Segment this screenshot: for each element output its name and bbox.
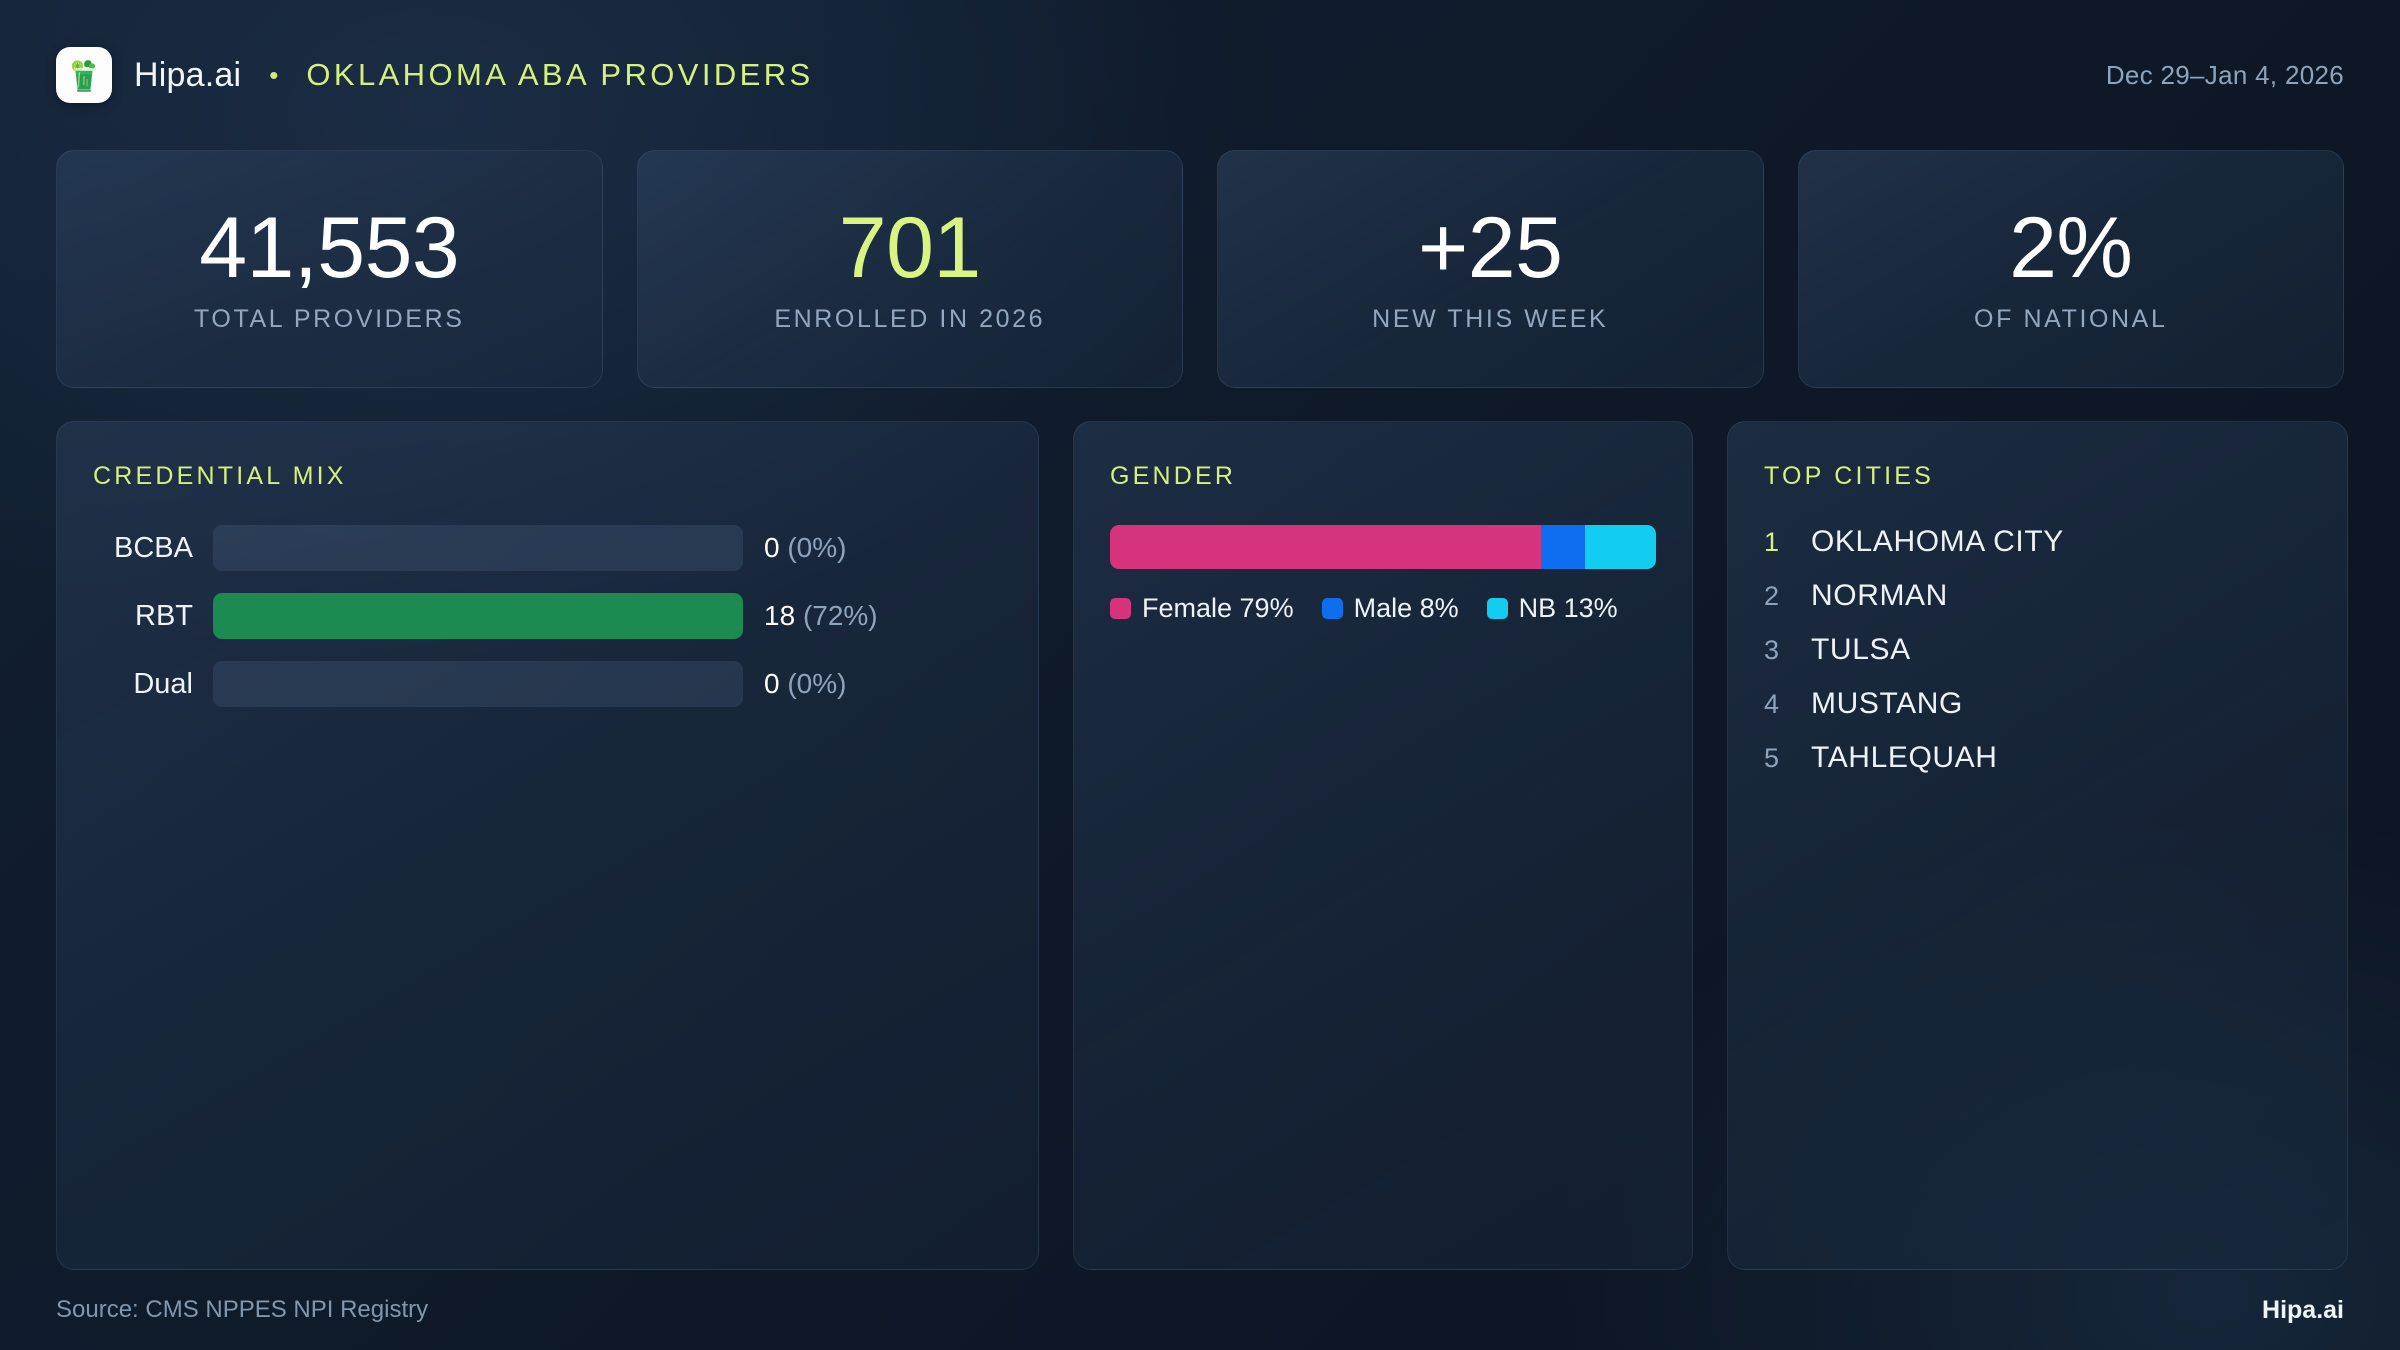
- city-name: NORMAN: [1811, 579, 1948, 613]
- list-item: 3 TULSA: [1764, 633, 2311, 667]
- legend-item-male: Male 8%: [1322, 593, 1459, 624]
- bar-percent: (0%): [787, 668, 846, 699]
- city-rank: 1: [1764, 527, 1782, 558]
- legend-swatch-icon: [1110, 598, 1131, 619]
- city-list: 1 OKLAHOMA CITY 2 NORMAN 3 TULSA 4 MUSTA…: [1764, 525, 2311, 775]
- kpi-value: +25: [1418, 205, 1562, 291]
- bar-count: 18: [764, 600, 795, 631]
- kpi-card-new-this-week: +25 NEW THIS WEEK: [1217, 150, 1764, 388]
- legend-swatch-icon: [1487, 598, 1508, 619]
- city-name: TAHLEQUAH: [1811, 741, 1998, 775]
- bar-percent: (72%): [803, 600, 878, 631]
- kpi-label: ENROLLED IN 2026: [774, 305, 1045, 334]
- kpi-card-total-providers: 41,553 TOTAL PROVIDERS: [56, 150, 603, 388]
- panel-title: GENDER: [1110, 462, 1656, 491]
- panel-row: CREDENTIAL MIX BCBA 0 (0%) RBT: [56, 421, 2344, 1270]
- credential-row-dual: Dual 0 (0%): [93, 661, 1002, 707]
- gender-segment-male: [1541, 525, 1585, 569]
- bar-track: [213, 661, 743, 707]
- kpi-value: 2%: [2009, 205, 2132, 291]
- panel-title: TOP CITIES: [1764, 462, 2311, 491]
- legend-swatch-icon: [1322, 598, 1343, 619]
- legend-label: Male 8%: [1354, 593, 1459, 624]
- bar-value: 0 (0%): [743, 668, 846, 700]
- legend-item-female: Female 79%: [1110, 593, 1294, 624]
- footer: Source: CMS NPPES NPI Registry Hipa.ai: [56, 1270, 2344, 1350]
- kpi-value: 41,553: [199, 205, 459, 291]
- bar-count: 0: [764, 532, 780, 563]
- header: Hipa.ai • OKLAHOMA ABA PROVIDERS Dec 29–…: [56, 0, 2344, 150]
- bar-label: Dual: [93, 668, 213, 701]
- footer-brand: Hipa.ai: [2262, 1296, 2344, 1325]
- city-name: MUSTANG: [1811, 687, 1963, 721]
- city-name: TULSA: [1811, 633, 1911, 667]
- panel-gender: GENDER Female 79% Male 8% NB 13%: [1073, 421, 1693, 1270]
- brand-separator: •: [269, 62, 278, 88]
- kpi-row: 41,553 TOTAL PROVIDERS 701 ENROLLED IN 2…: [56, 150, 2344, 388]
- gender-segment-nb: [1585, 525, 1656, 569]
- mojito-glass-icon: [56, 47, 112, 103]
- credential-bar-list: BCBA 0 (0%) RBT 18 (: [93, 525, 1002, 707]
- gender-legend: Female 79% Male 8% NB 13%: [1110, 593, 1656, 624]
- kpi-label: NEW THIS WEEK: [1372, 305, 1608, 334]
- bar-track: [213, 593, 743, 639]
- list-item: 1 OKLAHOMA CITY: [1764, 525, 2311, 559]
- gender-stacked-bar: [1110, 525, 1656, 569]
- credential-row-rbt: RBT 18 (72%): [93, 593, 1002, 639]
- city-name: OKLAHOMA CITY: [1811, 525, 2064, 559]
- kpi-card-enrolled-2026: 701 ENROLLED IN 2026: [637, 150, 1184, 388]
- kpi-label: TOTAL PROVIDERS: [194, 305, 465, 334]
- bar-track: [213, 525, 743, 571]
- bar-label: RBT: [93, 600, 213, 633]
- bar-fill: [213, 593, 743, 639]
- bar-count: 0: [764, 668, 780, 699]
- brand-block: Hipa.ai • OKLAHOMA ABA PROVIDERS: [56, 47, 814, 103]
- credential-row-bcba: BCBA 0 (0%): [93, 525, 1002, 571]
- legend-item-nb: NB 13%: [1487, 593, 1618, 624]
- panel-top-cities: TOP CITIES 1 OKLAHOMA CITY 2 NORMAN 3 TU…: [1727, 421, 2348, 1270]
- gender-segment-female: [1110, 525, 1541, 569]
- page-title: OKLAHOMA ABA PROVIDERS: [306, 57, 813, 93]
- bar-value: 18 (72%): [743, 600, 878, 632]
- city-rank: 2: [1764, 581, 1782, 612]
- date-range: Dec 29–Jan 4, 2026: [2106, 60, 2344, 91]
- city-rank: 3: [1764, 635, 1782, 666]
- list-item: 4 MUSTANG: [1764, 687, 2311, 721]
- legend-label: NB 13%: [1519, 593, 1618, 624]
- list-item: 2 NORMAN: [1764, 579, 2311, 613]
- kpi-label: OF NATIONAL: [1974, 305, 2167, 334]
- city-rank: 4: [1764, 689, 1782, 720]
- panel-title: CREDENTIAL MIX: [93, 462, 1002, 491]
- list-item: 5 TAHLEQUAH: [1764, 741, 2311, 775]
- dashboard-page: Hipa.ai • OKLAHOMA ABA PROVIDERS Dec 29–…: [0, 0, 2400, 1350]
- panel-credential-mix: CREDENTIAL MIX BCBA 0 (0%) RBT: [56, 421, 1039, 1270]
- footer-source: Source: CMS NPPES NPI Registry: [56, 1296, 428, 1324]
- brand-name: Hipa.ai: [134, 56, 241, 95]
- bar-label: BCBA: [93, 532, 213, 565]
- kpi-card-of-national: 2% OF NATIONAL: [1798, 150, 2345, 388]
- legend-label: Female 79%: [1142, 593, 1294, 624]
- city-rank: 5: [1764, 743, 1782, 774]
- bar-value: 0 (0%): [743, 532, 846, 564]
- bar-percent: (0%): [787, 532, 846, 563]
- kpi-value: 701: [839, 205, 981, 291]
